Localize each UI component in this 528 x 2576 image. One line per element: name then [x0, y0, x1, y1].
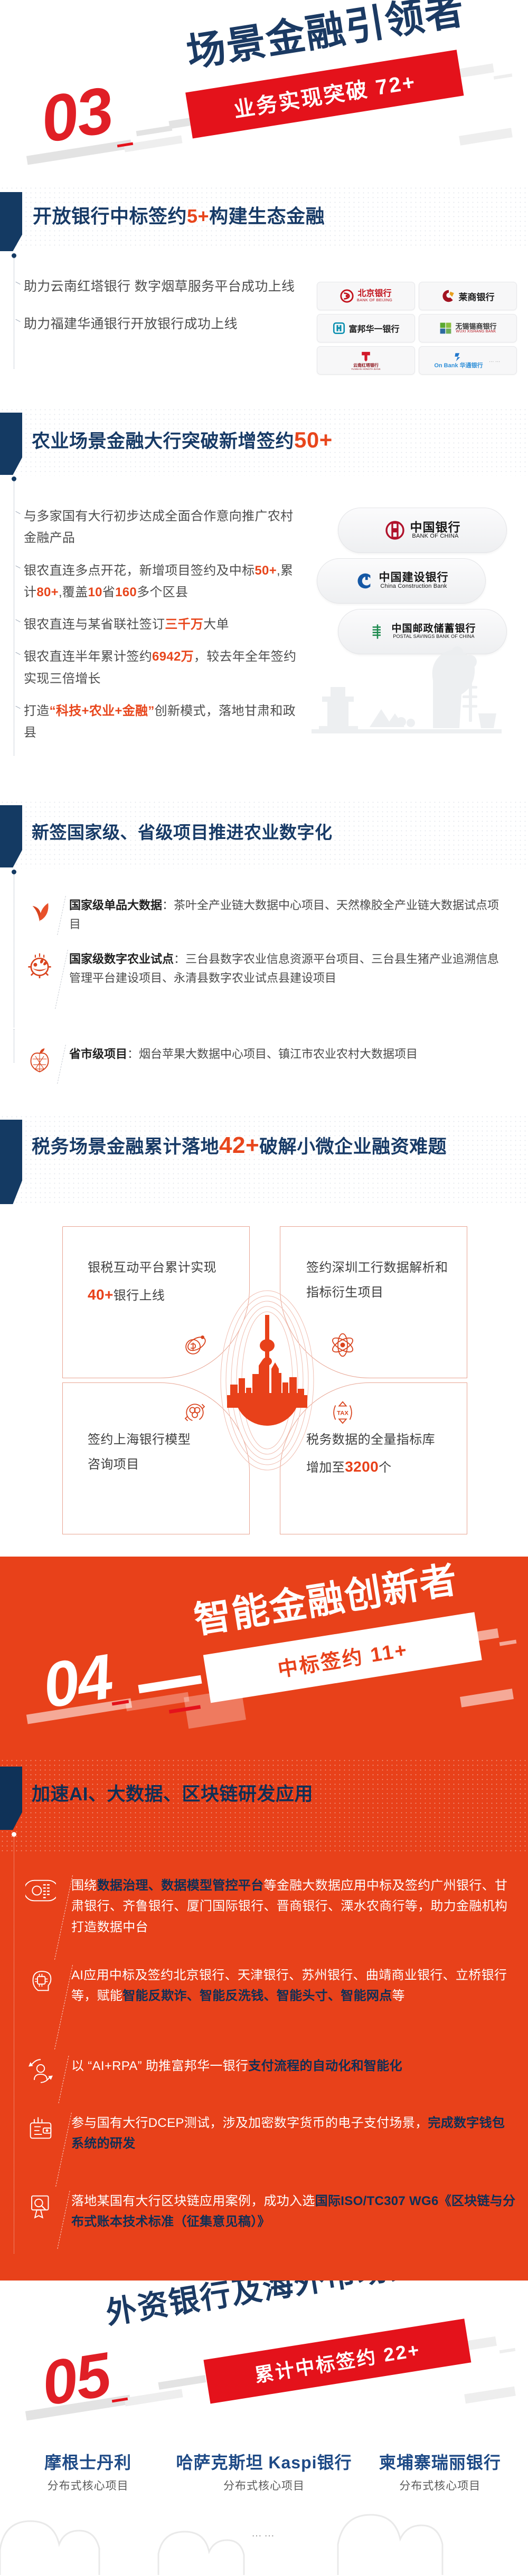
agri-bullet-list: 与多家国有大行初步达成全面合作意向推广农村金融产品 银农直连多点开花，新增项目签… [24, 505, 298, 743]
section-banner-05: 05 外资银行及海外市场突破者 累计中标签约 22+ [0, 2281, 528, 2439]
bullet-text: 银农直连多点开花，新增项目签约及中标50+,累计80+,覆盖10省160多个区县 [24, 564, 293, 599]
data-scan-icon [25, 1875, 56, 1906]
list-item: 参与国有大行DCEP测试，涉及加密数字货币的电子支付场景，完成数字钱包系统的研发 [25, 2113, 516, 2187]
item-text: 围绕数据治理、数据模型管控平台等金融大数据应用中标及签约广州银行、甘肃银行、齐鲁… [71, 1875, 516, 1960]
coin-orbit-icon [181, 1331, 209, 1359]
list-item: 以 “AI+RPA” 助推富邦华一银行支付流程的自动化和智能化 [25, 2056, 516, 2103]
section-banner-04: 04 智能金融创新者 中标签约 11+ [0, 1557, 528, 1742]
connector-line [14, 874, 14, 1027]
item-label: 国家级单品大数据 [69, 899, 162, 912]
item-label: 省市级项目 [69, 1047, 127, 1061]
bullet-tick-icon [15, 319, 20, 322]
list-item: AI应用中标及签约北京银行、天津银行、苏州银行、曲靖商业银行、立桥银行等，赋能智… [25, 1965, 516, 2049]
bank-name: 摩根士丹利 [0, 2453, 176, 2473]
connector-line [14, 1837, 14, 2254]
tax-heading: 税务场景金融累计落地42+破解小微企业融资难题 [32, 1131, 496, 1160]
overseas-bank-row: 摩根士丹利 分布式核心项目 哈萨克斯坦 Kaspi银行 分布式核心项目 柬埔寨瑞… [0, 2453, 528, 2493]
list-item: 与多家国有大行初步达成全面合作意向推广农村金融产品 [24, 505, 298, 549]
overseas-bank-item: 哈萨克斯坦 Kaspi银行 分布式核心项目 [176, 2453, 352, 2493]
heading-tab [0, 1120, 22, 1204]
heading-post: 构建生态金融 [209, 205, 325, 227]
bank-name: 柬埔寨瑞丽银行 [352, 2453, 528, 2473]
connector-line [14, 481, 14, 756]
list-item: 打造“科技+农业+金融”创新模式，落地甘肃和政县 [24, 700, 298, 744]
connector-node [12, 476, 16, 481]
list-item: 落地某国有大行区块链应用案例，成功入选国际ISO/TC307 WG6《区块链与分… [25, 2191, 516, 2249]
banner-03-number: 03 [36, 77, 117, 152]
bullet-text: 与多家国有大行初步达成全面合作意向推广农村金融产品 [24, 509, 293, 545]
bullet-tick-icon [15, 511, 20, 514]
heading-number: 5+ [187, 205, 209, 227]
bullet-tick-icon [15, 619, 20, 623]
list-item: 国家级数字农业试点：三台县数字农业信息资源平台项目、三台县生猪产业追溯信息管理平… [25, 950, 506, 1009]
petal-text-bottom-right: 税务数据的全量指标库增加至3200个 [306, 1428, 449, 1481]
national-heading: 新签国家级、省级项目推进农业数字化 [32, 822, 333, 843]
item-text: 国家级数字农业试点：三台县数字农业信息资源平台项目、三台县生猪产业追溯信息管理平… [69, 950, 506, 1009]
svg-text:TAX: TAX [337, 1410, 348, 1417]
bullet-text: 助力云南红塔银行 数字烟草服务平台成功上线 [24, 279, 295, 294]
bank-of-beijing-logo [340, 289, 354, 303]
bank-of-china-logo [384, 520, 406, 541]
connector-node [12, 870, 16, 874]
heading-number: 42+ [219, 1132, 259, 1158]
list-item: 银农直连与某省联社签订三千万大单 [24, 614, 298, 635]
wuxi-xishang-bank-logo [439, 321, 452, 335]
bullet-tick-icon [15, 706, 20, 709]
section-provincial-item: 省市级项目：烟台苹果大数据中心项目、镇江市农业农村大数据项目 [0, 1029, 528, 1098]
petal-text-top-left: 银税互动平台累计实现40+银行上线 [88, 1256, 225, 1309]
yunnan-hongta-bank-logo [359, 350, 373, 364]
onebank-huatong-logo [452, 351, 464, 363]
connector-node [12, 253, 16, 258]
rpa-robot-icon [25, 2056, 56, 2086]
overseas-more-dots: …… [0, 2527, 528, 2540]
connector-line [14, 258, 14, 369]
pill-name-en: BANK OF CHINA [412, 533, 458, 540]
list-item: 助力福建华通银行开放银行成功上线 [24, 313, 298, 336]
section-tax: 税务场景金融累计落地42+破解小微企业融资难题 [0, 1103, 528, 1557]
heading-tab [0, 413, 22, 475]
banner-05-number: 05 [38, 2343, 114, 2415]
open-bank-heading: 开放银行中标签约5+构建生态金融 [33, 205, 325, 228]
item-text: AI应用中标及签约北京银行、天津银行、苏州银行、曲靖商业银行、立桥银行等，赋能智… [71, 1965, 516, 2049]
heading-tab [0, 1767, 22, 1830]
agri-heading: 农业场景金融大行突破新增签约50+ [32, 426, 333, 453]
tax-cycle-icon: TAX [328, 1398, 357, 1427]
logos-more: …… [489, 358, 502, 364]
bullet-tick-icon [15, 652, 20, 655]
pill-name-cn: 中国银行 [410, 521, 461, 533]
logo-card-wuxi-xishang-bank[interactable]: 无锡锡商银行 WUXI XISHANG BANK [419, 314, 517, 342]
bullet-tick-icon [15, 281, 20, 284]
apple-icon [25, 1045, 54, 1073]
bullet-text: 助力福建华通银行开放银行成功上线 [24, 317, 238, 331]
petal-text-bottom-left: 签约上海银行模型咨询项目 [88, 1428, 220, 1477]
bullet-text: 打造“科技+农业+金融”创新模式，落地甘肃和政县 [24, 704, 296, 740]
list-item: 助力云南红塔银行 数字烟草服务平台成功上线 [24, 275, 298, 298]
city-skyline-icon [214, 1311, 320, 1427]
bullet-tick-icon [15, 565, 20, 568]
item-text: 省市级项目：烟台苹果大数据中心项目、镇江市农业农村大数据项目 [69, 1045, 506, 1084]
section-overseas: 摩根士丹利 分布式核心项目 哈萨克斯坦 Kaspi银行 分布式核心项目 柬埔寨瑞… [0, 2439, 528, 2576]
ai-brain-icon [25, 1965, 56, 1996]
bullet-text: 银农直连与某省联社签订三千万大单 [24, 617, 229, 632]
ccb-logo [354, 571, 374, 591]
pill-name-cn: 中国建设银行 [379, 572, 449, 584]
bullet-text: 银农直连半年累计签约6942万，较去年全年签约实现三倍增长 [24, 650, 296, 685]
open-bank-bullet-list: 助力云南红塔银行 数字烟草服务平台成功上线 助力福建华通银行开放银行成功上线 [24, 275, 298, 336]
item-text: 落地某国有大行区块链应用案例，成功入选国际ISO/TC307 WG6《区块链与分… [71, 2191, 516, 2249]
pill-name-en: China Construction Bank [380, 584, 447, 590]
sprout-icon [25, 896, 54, 924]
logo-name-cn: 莱商银行 [459, 290, 495, 303]
ai-heading: 加速AI、大数据、区块链研发应用 [32, 1783, 313, 1806]
bank-logo-grid: 北京银行 BANK OF BEIJING 莱商银行 富邦华一银行 [317, 282, 517, 375]
list-item: 银农直连多点开花，新增项目签约及中标50+,累计80+,覆盖10省160多个区县 [24, 560, 298, 604]
bank-project: 分布式核心项目 [352, 2477, 528, 2493]
wallet-chip-icon [25, 2113, 56, 2143]
orchard-illustration [312, 617, 502, 749]
logo-card-bank-of-beijing[interactable]: 北京银行 BANK OF BEIJING [317, 282, 415, 310]
item-text: 以 “AI+RPA” 助推富邦华一银行支付流程的自动化和智能化 [71, 2056, 516, 2103]
logo-name-cn: 北京银行 [357, 290, 391, 299]
connector-node [12, 1832, 16, 1837]
connector-line [14, 1029, 14, 1063]
logo-name-cn: 无锡锡商银行 [455, 323, 496, 330]
list-item: 围绕数据治理、数据模型管控平台等金融大数据应用中标及签约广州银行、甘肃银行、齐鲁… [25, 1875, 516, 1960]
section-open-bank: 开放银行中标签约5+构建生态金融 助力云南红塔银行 数字烟草服务平台成功上线 助… [0, 186, 528, 369]
pill-ccb[interactable]: 中国建设银行 China Construction Bank [317, 558, 486, 604]
pill-bank-of-china[interactable]: 中国银行 BANK OF CHINA [338, 508, 507, 553]
heading-post: 破解小微企业融资难题 [259, 1137, 447, 1157]
bank-project: 分布式核心项目 [0, 2477, 176, 2493]
heading-pre: 农业场景金融大行突破新增签约 [32, 431, 294, 452]
item-desc: ：烟台苹果大数据中心项目、镇江市农业农村大数据项目 [127, 1047, 418, 1061]
petal-text-top-right: 签约深圳工行数据解析和指标衍生项目 [306, 1256, 449, 1305]
fubon-huayi-bank-logo [332, 321, 346, 335]
bank-project: 分布式核心项目 [176, 2477, 352, 2493]
overseas-bank-item: 摩根士丹利 分布式核心项目 [0, 2453, 176, 2493]
grain-gear-icon [25, 950, 54, 978]
banner-05-title: 外资银行及海外市场突破者 [104, 2281, 484, 2329]
section-ai-bigdata: 加速AI、大数据、区块链研发应用 围绕数据治理、数据模型管 [0, 1742, 528, 2281]
overseas-bank-item: 柬埔寨瑞丽银行 分布式核心项目 [352, 2453, 528, 2493]
logo-name-en: BANK OF BEIJING [357, 298, 392, 302]
laishang-bank-logo [441, 289, 456, 303]
list-item: 省市级项目：烟台苹果大数据中心项目、镇江市农业农村大数据项目 [25, 1045, 506, 1084]
item-text: 国家级单品大数据：茶叶全产业链大数据中心项目、天然橡胶全产业链大数据试点项目 [69, 896, 506, 935]
item-label: 国家级数字农业试点 [69, 952, 174, 966]
list-item: 国家级单品大数据：茶叶全产业链大数据中心项目、天然橡胶全产业链大数据试点项目 [25, 896, 506, 935]
section-agriculture: 农业场景金融大行突破新增签约50+ 与多家国有大行初步达成全面合作意向推广农村金… [0, 369, 528, 770]
logo-card-laishang-bank[interactable]: 莱商银行 [419, 282, 517, 310]
logo-name-en: WUXI XISHANG BANK [456, 330, 496, 333]
model-cycle-icon [181, 1398, 209, 1427]
heading-number: 50+ [294, 427, 333, 452]
heading-pre: 开放银行中标签约 [33, 205, 187, 227]
list-item: 银农直连半年累计签约6942万，较去年全年签约实现三倍增长 [24, 646, 298, 690]
infographic-page: 03 场景金融引领者 业务实现突破 72+ 开放银行中标签约5+构建生态金融 助… [0, 0, 528, 2576]
banner-05-ribbon: 累计中标签约 22+ [203, 2319, 471, 2403]
logo-name-cn: On Bank 华通银行 [434, 363, 483, 369]
section-banner-03: 03 场景金融引领者 业务实现突破 72+ [0, 0, 528, 186]
certificate-icon [25, 2191, 56, 2221]
section-national-projects: 新签国家级、省级项目推进农业数字化 国家级单品大数据：茶叶全产业链大数据中心项目… [0, 791, 528, 1029]
heading-tab [0, 192, 22, 251]
bank-name: 哈萨克斯坦 Kaspi银行 [176, 2453, 352, 2473]
heading-pre: 税务场景金融累计落地 [32, 1137, 219, 1157]
tax-petal-diagram: 银税互动平台累计实现40+银行上线 签约深圳工行数据解析和指标衍生项目 签约上海… [58, 1223, 475, 1540]
banner-04-number: 04 [39, 1645, 116, 1718]
atom-icon [328, 1331, 357, 1359]
logo-card-fubon-huayi-bank[interactable]: 富邦华一银行 [317, 314, 415, 342]
item-text: 参与国有大行DCEP测试，涉及加密数字货币的电子支付场景，完成数字钱包系统的研发 [71, 2113, 516, 2187]
heading-tab [0, 805, 22, 867]
logo-name-cn: 富邦华一银行 [348, 322, 399, 335]
